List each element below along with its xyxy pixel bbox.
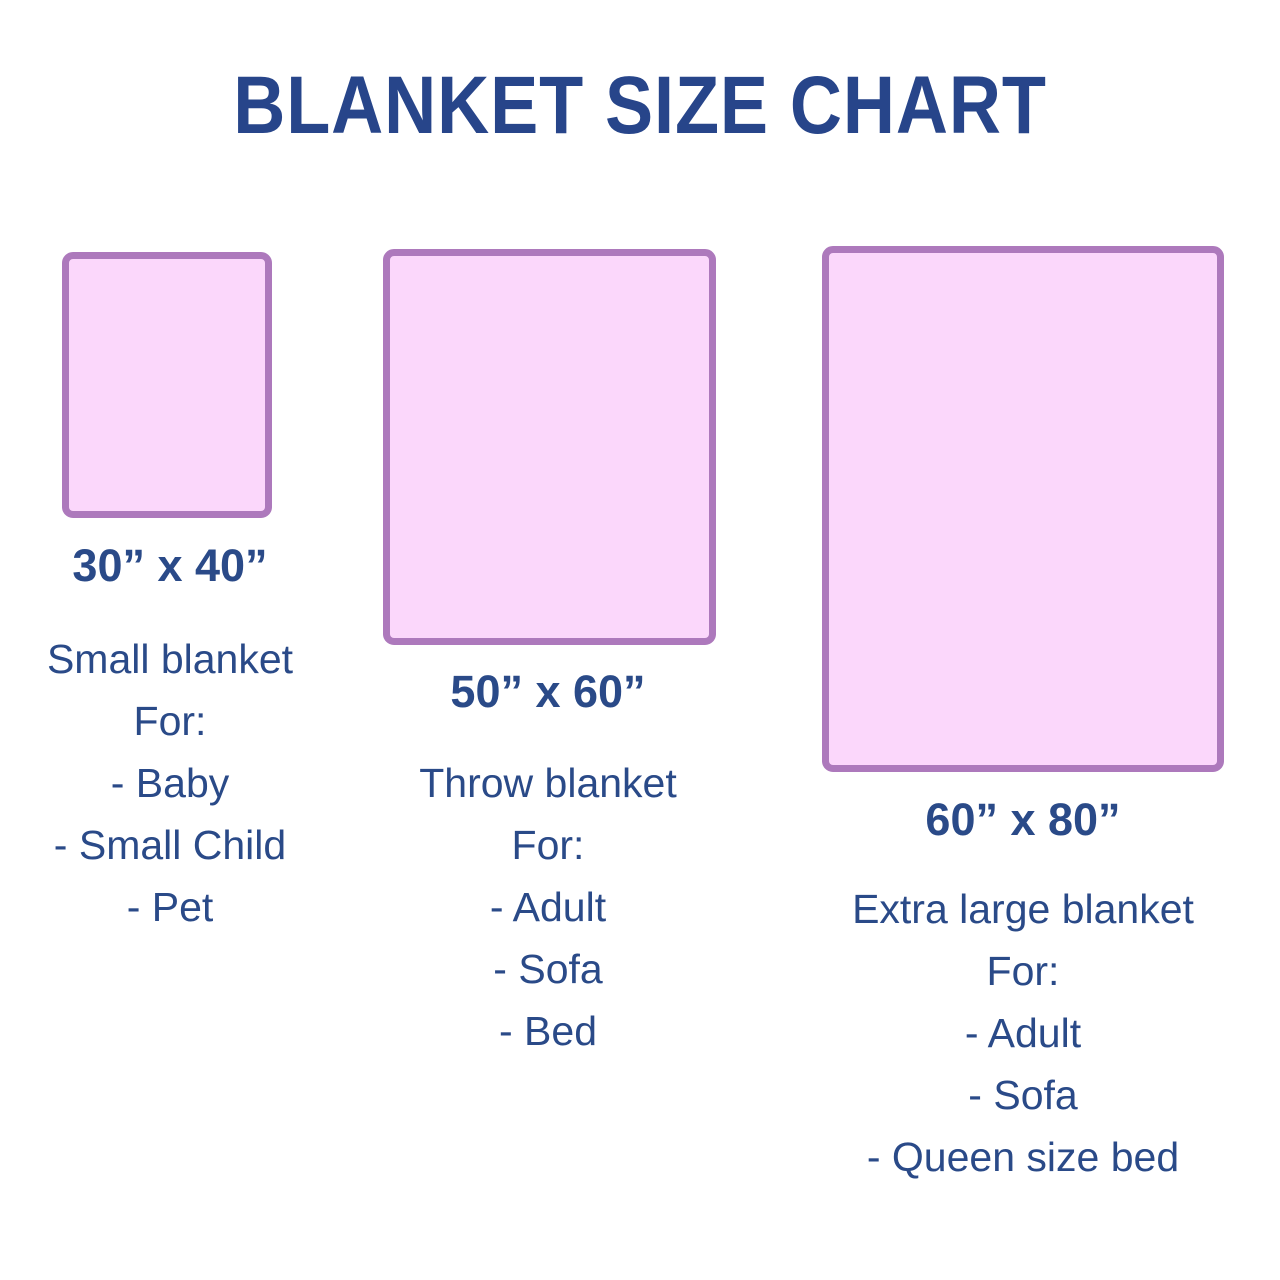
blanket-use-item: - Baby: [0, 752, 340, 814]
blanket-for-label-small: For:: [0, 690, 340, 752]
blanket-name-throw: Throw blanket: [378, 752, 718, 814]
blanket-description-small: Small blanket For: - Baby - Small Child …: [0, 628, 340, 938]
blanket-description-extra-large: Extra large blanket For: - Adult - Sofa …: [798, 878, 1248, 1188]
blanket-for-label-throw: For:: [378, 814, 718, 876]
blanket-size-label-small: 30” x 40”: [0, 538, 340, 594]
blanket-use-item: - Bed: [378, 1000, 718, 1062]
blanket-name-small: Small blanket: [0, 628, 340, 690]
blanket-size-label-extra-large: 60” x 80”: [798, 792, 1248, 848]
blanket-use-item: - Sofa: [378, 938, 718, 1000]
blanket-size-label-throw: 50” x 60”: [378, 664, 718, 720]
blanket-use-item: - Queen size bed: [798, 1126, 1248, 1188]
blanket-swatch-extra-large: [822, 246, 1224, 772]
blanket-swatch-throw: [383, 249, 716, 645]
page-title: BLANKET SIZE CHART: [77, 62, 1203, 150]
blanket-for-label-extra-large: For:: [798, 940, 1248, 1002]
blanket-use-item: - Adult: [798, 1002, 1248, 1064]
blanket-name-extra-large: Extra large blanket: [798, 878, 1248, 940]
blanket-description-throw: Throw blanket For: - Adult - Sofa - Bed: [378, 752, 718, 1062]
blanket-use-item: - Small Child: [0, 814, 340, 876]
blanket-use-item: - Adult: [378, 876, 718, 938]
blanket-use-item: - Pet: [0, 876, 340, 938]
blanket-use-item: - Sofa: [798, 1064, 1248, 1126]
blanket-swatch-small: [62, 252, 272, 518]
